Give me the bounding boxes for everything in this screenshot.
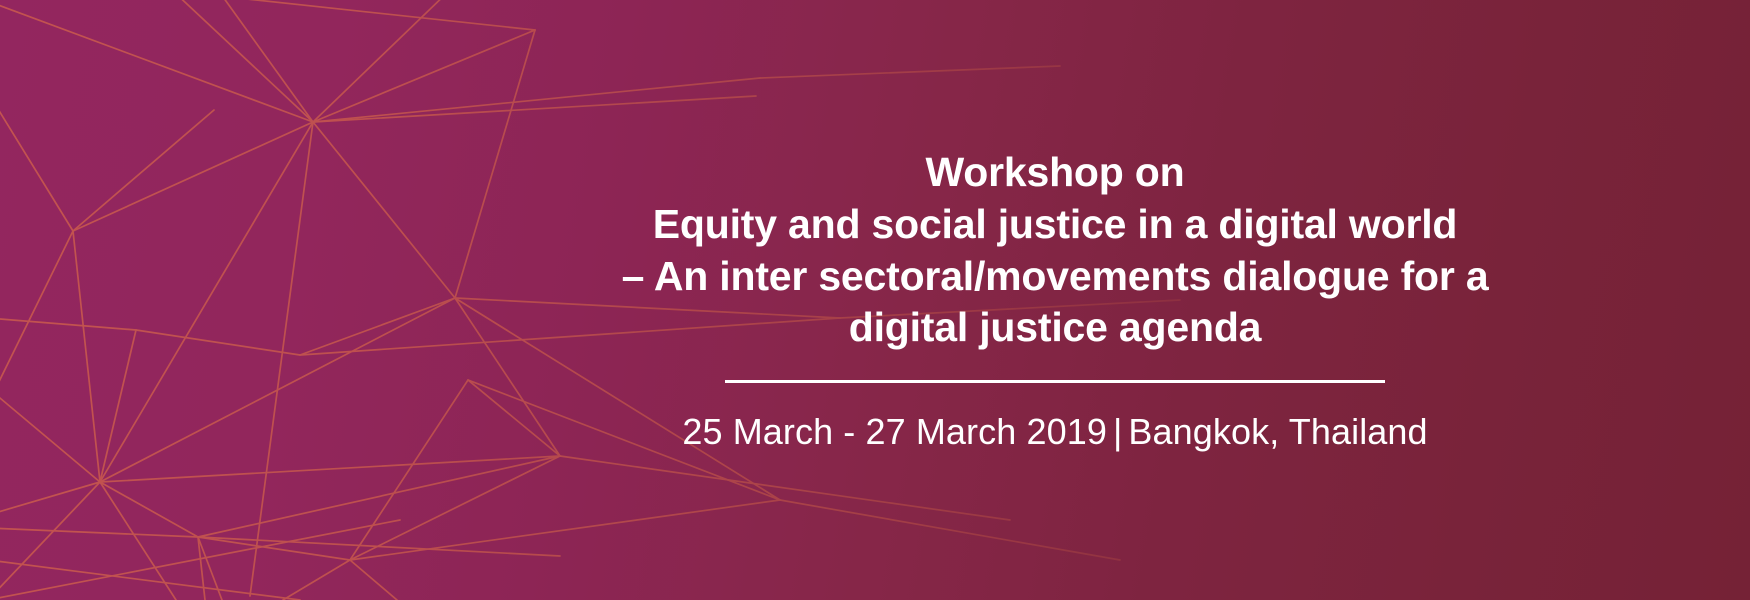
title-divider xyxy=(725,380,1385,383)
title-line-3: – An inter sectoral/movements dialogue f… xyxy=(622,251,1489,303)
event-date-range: 25 March - 27 March 2019 xyxy=(682,411,1107,452)
details-separator: | xyxy=(1107,411,1128,452)
event-title: Workshop on Equity and social justice in… xyxy=(622,147,1489,354)
event-location: Bangkok, Thailand xyxy=(1128,411,1427,452)
title-line-2: Equity and social justice in a digital w… xyxy=(622,199,1489,251)
event-details: 25 March - 27 March 2019|Bangkok, Thaila… xyxy=(682,411,1427,453)
title-line-1: Workshop on xyxy=(622,147,1489,199)
banner-content: Workshop on Equity and social justice in… xyxy=(690,0,1420,600)
event-banner: Workshop on Equity and social justice in… xyxy=(0,0,1750,600)
title-line-4: digital justice agenda xyxy=(622,302,1489,354)
